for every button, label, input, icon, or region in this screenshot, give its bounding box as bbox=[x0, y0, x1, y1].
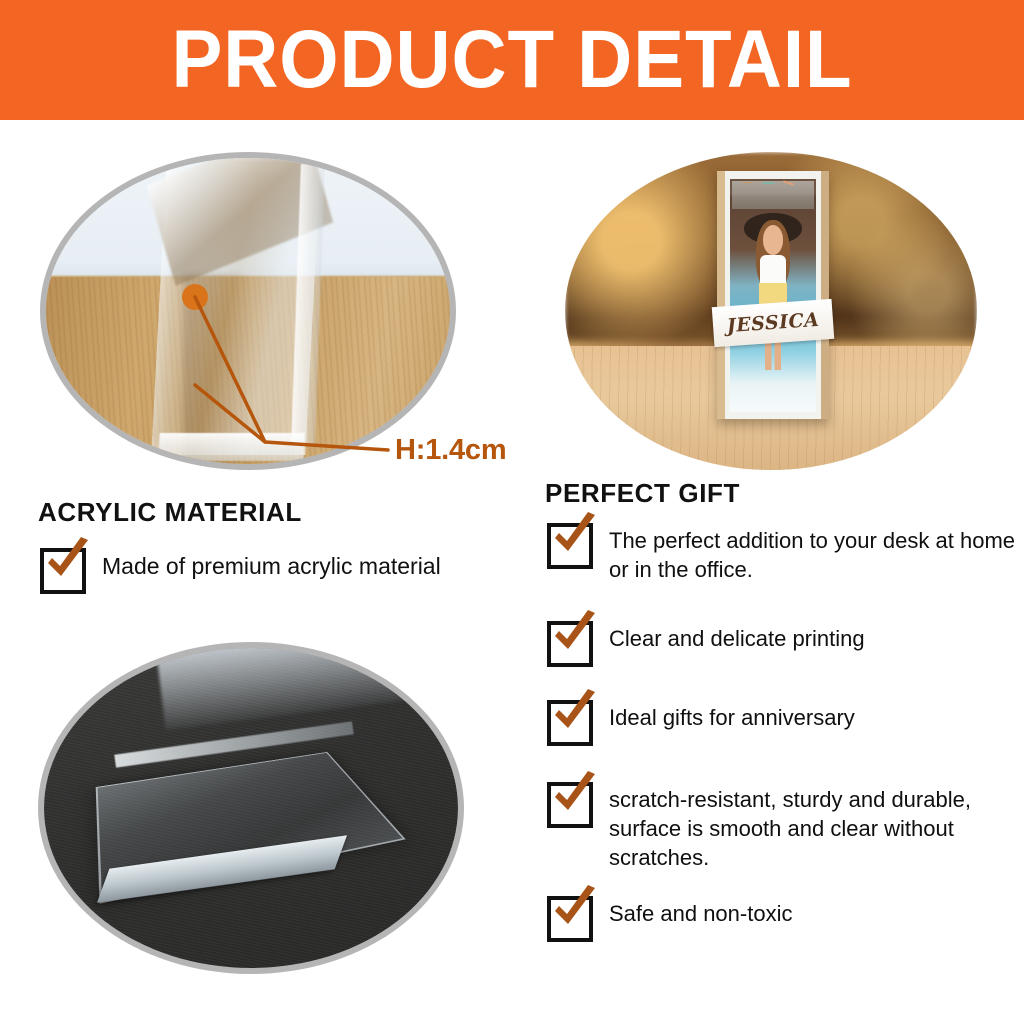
accessory-starfish-icon bbox=[783, 180, 794, 185]
section-heading-acrylic-material: ACRYLIC MATERIAL bbox=[38, 497, 302, 528]
checkbox-icon bbox=[547, 782, 593, 828]
checkbox-icon bbox=[547, 523, 593, 569]
checkmark-icon bbox=[548, 884, 602, 938]
checkmark-icon bbox=[548, 688, 602, 742]
list-item: Made of premium acrylic material bbox=[40, 548, 441, 594]
list-item-label: Ideal gifts for anniversary bbox=[609, 700, 855, 732]
list-item-label: scratch-resistant, sturdy and durable, s… bbox=[609, 782, 1024, 872]
doll-top bbox=[760, 255, 786, 285]
nameplate-text: JESSICA bbox=[726, 308, 820, 336]
acrylic-edge-photo bbox=[46, 158, 450, 464]
product-display-box: JESSICA bbox=[717, 171, 828, 419]
product-detail-infographic: PRODUCT DETAIL H:1.4cm bbox=[0, 0, 1024, 1024]
personalized-nameplate: JESSICA bbox=[712, 298, 835, 346]
list-item-label: Made of premium acrylic material bbox=[102, 548, 441, 581]
list-item: Safe and non-toxic bbox=[547, 896, 792, 942]
page-title: PRODUCT DETAIL bbox=[36, 0, 988, 120]
slate-highlight bbox=[156, 648, 458, 730]
list-item: Ideal gifts for anniversary bbox=[547, 700, 855, 746]
gift-box-photo: JESSICA bbox=[565, 152, 977, 470]
list-item: The perfect addition to your desk at hom… bbox=[547, 523, 1024, 584]
acrylic-block-photo bbox=[44, 648, 458, 968]
checkmark-icon bbox=[548, 511, 602, 565]
checkmark-icon bbox=[41, 536, 95, 590]
box-window bbox=[730, 179, 817, 412]
checkmark-icon bbox=[548, 609, 602, 663]
checkbox-icon bbox=[40, 548, 86, 594]
checkmark-icon bbox=[548, 770, 602, 824]
list-item-label: Safe and non-toxic bbox=[609, 896, 792, 928]
accessory-basket-icon bbox=[742, 182, 753, 184]
section-heading-perfect-gift: PERFECT GIFT bbox=[545, 478, 740, 509]
checkbox-icon bbox=[547, 896, 593, 942]
height-callout-label: H:1.4cm bbox=[395, 434, 506, 467]
list-item-label: The perfect addition to your desk at hom… bbox=[609, 523, 1024, 584]
list-item: scratch-resistant, sturdy and durable, s… bbox=[547, 782, 1024, 872]
list-item-label: Clear and delicate printing bbox=[609, 621, 865, 653]
acrylic-base-edge bbox=[158, 433, 305, 461]
checkbox-icon bbox=[547, 700, 593, 746]
accessory-shell-icon bbox=[762, 182, 775, 184]
list-item: Clear and delicate printing bbox=[547, 621, 865, 667]
accessory-shelf bbox=[732, 181, 814, 209]
checkbox-icon bbox=[547, 621, 593, 667]
